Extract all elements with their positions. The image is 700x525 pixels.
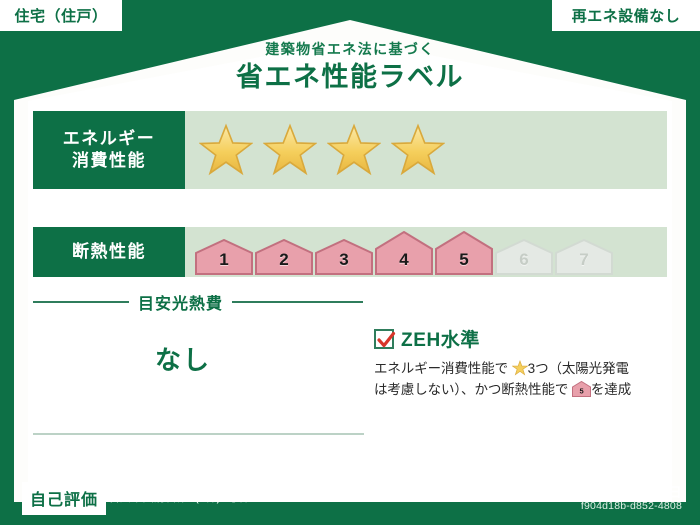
- star-icon: [391, 123, 445, 177]
- zeh-desc-star-count: 3つ（太陽光発電: [528, 361, 629, 376]
- label-content: エネルギー 消費性能 断熱性能 1234567 目安光熱費 なし: [0, 0, 700, 525]
- energy-label-line2: 消費性能: [72, 150, 146, 172]
- insulation-level-value: 5: [459, 250, 468, 275]
- insulation-performance-row: 断熱性能 1234567: [33, 227, 667, 277]
- energy-performance-row: エネルギー 消費性能: [33, 111, 667, 189]
- energy-performance-value-cell: [185, 111, 667, 189]
- utility-cost-divider: [33, 433, 364, 435]
- star-icon: [199, 123, 253, 177]
- utility-cost-value: なし: [33, 340, 333, 377]
- label-footer: 自己評価 磐田市国府台第2(3棟)3号棟25034000300 評価日 2025…: [0, 473, 700, 525]
- zeh-desc-part1: エネルギー消費性能で: [374, 361, 508, 376]
- insulation-level-chip: 1: [195, 239, 253, 275]
- building-identifier: 磐田市国府台第2(3棟)3号棟25034000300: [108, 489, 320, 505]
- utility-cost-heading: 目安光熱費: [33, 290, 363, 314]
- zeh-desc-part2: は考慮しない）、かつ断熱性能で: [374, 382, 568, 397]
- zeh-header: ZEH水準: [374, 325, 668, 352]
- star-icon-inline: [512, 360, 528, 376]
- insulation-level-chip: 2: [255, 239, 313, 275]
- insulation-level-value: 1: [219, 250, 228, 275]
- insulation-level-chip: 6: [495, 239, 553, 275]
- insulation-level-chip: 7: [555, 239, 613, 275]
- star-rating: [199, 123, 445, 177]
- insulation-label: 断熱性能: [72, 241, 146, 263]
- insulation-level-value: 4: [399, 250, 408, 275]
- insulation-performance-value-cell: 1234567: [185, 227, 667, 277]
- insulation-chip-icon-inline: 5: [572, 381, 591, 397]
- insulation-level-value: 2: [279, 250, 288, 275]
- insulation-performance-label-cell: 断熱性能: [33, 227, 185, 277]
- insulation-level-value: 7: [579, 250, 588, 275]
- zeh-desc-part3: を達成: [591, 382, 631, 397]
- insulation-level-chip: 4: [375, 231, 433, 275]
- self-evaluation-badge: 自己評価: [22, 482, 106, 515]
- insulation-level-chip: 5: [435, 231, 493, 275]
- energy-performance-label-cell: エネルギー 消費性能: [33, 111, 185, 189]
- insulation-level-chip: 3: [315, 239, 373, 275]
- zeh-standard-block: ZEH水準 エネルギー消費性能で 3つ（太陽光発電 は考慮しない）、かつ断熱性能…: [374, 325, 668, 401]
- star-icon: [263, 123, 317, 177]
- zeh-description: エネルギー消費性能で 3つ（太陽光発電 は考慮しない）、かつ断熱性能で 5 を達…: [374, 359, 668, 401]
- evaluation-uuid: f904d18b-d852-4808: [581, 500, 682, 512]
- heading-rule-left: [33, 301, 129, 303]
- insulation-level-value: 6: [519, 250, 528, 275]
- insulation-level-scale: 1234567: [195, 231, 613, 275]
- insulation-chip-inline-value: 5: [579, 386, 583, 395]
- heading-rule-right: [232, 301, 363, 303]
- evaluation-date: 評価日 2025年8月19日: [540, 481, 682, 501]
- check-icon: [374, 329, 394, 349]
- energy-label-line1: エネルギー: [63, 128, 156, 150]
- zeh-title: ZEH水準: [401, 325, 480, 352]
- utility-cost-heading-label: 目安光熱費: [138, 290, 223, 314]
- star-icon: [327, 123, 381, 177]
- insulation-level-value: 3: [339, 250, 348, 275]
- energy-performance-label: 住宅（住戸） 再エネ設備なし 建築物省エネ法に基づく 省エネ性能ラベル エネルギ…: [0, 0, 700, 525]
